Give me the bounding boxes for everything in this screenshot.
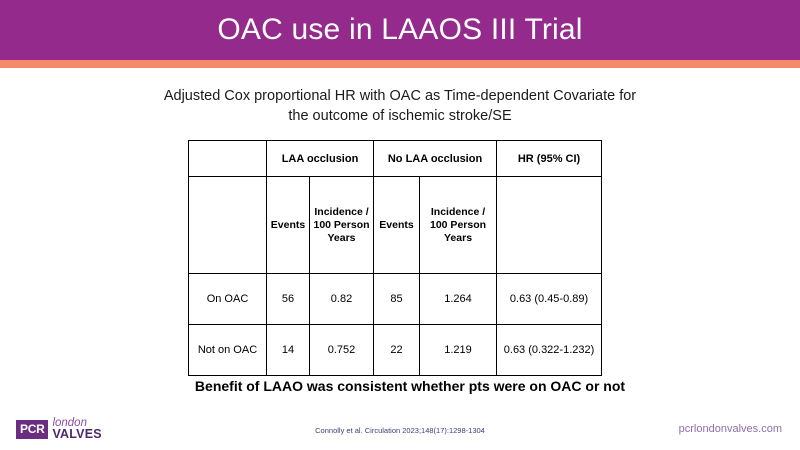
slide-header-band: OAC use in LAAOS III Trial	[0, 0, 800, 60]
logo-wordmark: london VALVES	[52, 418, 101, 440]
subtitle-line-1: Adjusted Cox proportional HR with OAC as…	[90, 86, 710, 106]
results-table: LAA occlusion No LAA occlusion HR (95% C…	[188, 140, 602, 376]
cell-hr-on-oac: 0.63 (0.45-0.89)	[497, 274, 602, 325]
subtitle-line-2: the outcome of ischemic stroke/SE	[90, 106, 710, 126]
subheader-cell-incidence-no-laa: Incidence / 100 Person Years	[420, 177, 497, 274]
table-sub-header-row: Events Incidence / 100 Person Years Even…	[189, 177, 602, 274]
cell-events-laa-not-on-oac: 14	[267, 325, 310, 376]
cell-incidence-no-laa-not-on-oac: 1.219	[420, 325, 497, 376]
cell-events-laa-on-oac: 56	[267, 274, 310, 325]
cell-events-no-laa-not-on-oac: 22	[374, 325, 420, 376]
subheader-cell-events-no-laa: Events	[374, 177, 420, 274]
cell-incidence-laa-on-oac: 0.82	[310, 274, 374, 325]
cell-incidence-no-laa-on-oac: 1.264	[420, 274, 497, 325]
header-accent-bar	[0, 60, 800, 68]
conclusion-statement: Benefit of LAAO was consistent whether p…	[60, 378, 760, 394]
citation-reference: Connolly et al. Circulation 2023;148(17)…	[250, 426, 550, 435]
slide-subtitle: Adjusted Cox proportional HR with OAC as…	[90, 86, 710, 126]
pcr-logo-mark: PCR	[16, 420, 48, 439]
header-cell-laa-occlusion: LAA occlusion	[267, 141, 374, 177]
cell-hr-not-on-oac: 0.63 (0.322-1.232)	[497, 325, 602, 376]
table-row: On OAC 56 0.82 85 1.264 0.63 (0.45-0.89)	[189, 274, 602, 325]
subheader-cell-blank	[189, 177, 267, 274]
cell-events-no-laa-on-oac: 85	[374, 274, 420, 325]
row-label-not-on-oac: Not on OAC	[189, 325, 267, 376]
table-row: Not on OAC 14 0.752 22 1.219 0.63 (0.322…	[189, 325, 602, 376]
header-cell-no-laa-occlusion: No LAA occlusion	[374, 141, 497, 177]
page-title: OAC use in LAAOS III Trial	[217, 13, 582, 47]
table-group-header-row: LAA occlusion No LAA occlusion HR (95% C…	[189, 141, 602, 177]
pcr-london-valves-logo: PCR london VALVES	[16, 418, 102, 440]
header-cell-hr: HR (95% CI)	[497, 141, 602, 177]
subheader-cell-incidence-laa: Incidence / 100 Person Years	[310, 177, 374, 274]
row-label-on-oac: On OAC	[189, 274, 267, 325]
cell-incidence-laa-not-on-oac: 0.752	[310, 325, 374, 376]
header-cell-blank	[189, 141, 267, 177]
site-url-label: pcrlondonvalves.com	[679, 423, 782, 435]
subheader-cell-events-laa: Events	[267, 177, 310, 274]
subheader-cell-hr-blank	[497, 177, 602, 274]
logo-valves-text: VALVES	[52, 429, 101, 440]
